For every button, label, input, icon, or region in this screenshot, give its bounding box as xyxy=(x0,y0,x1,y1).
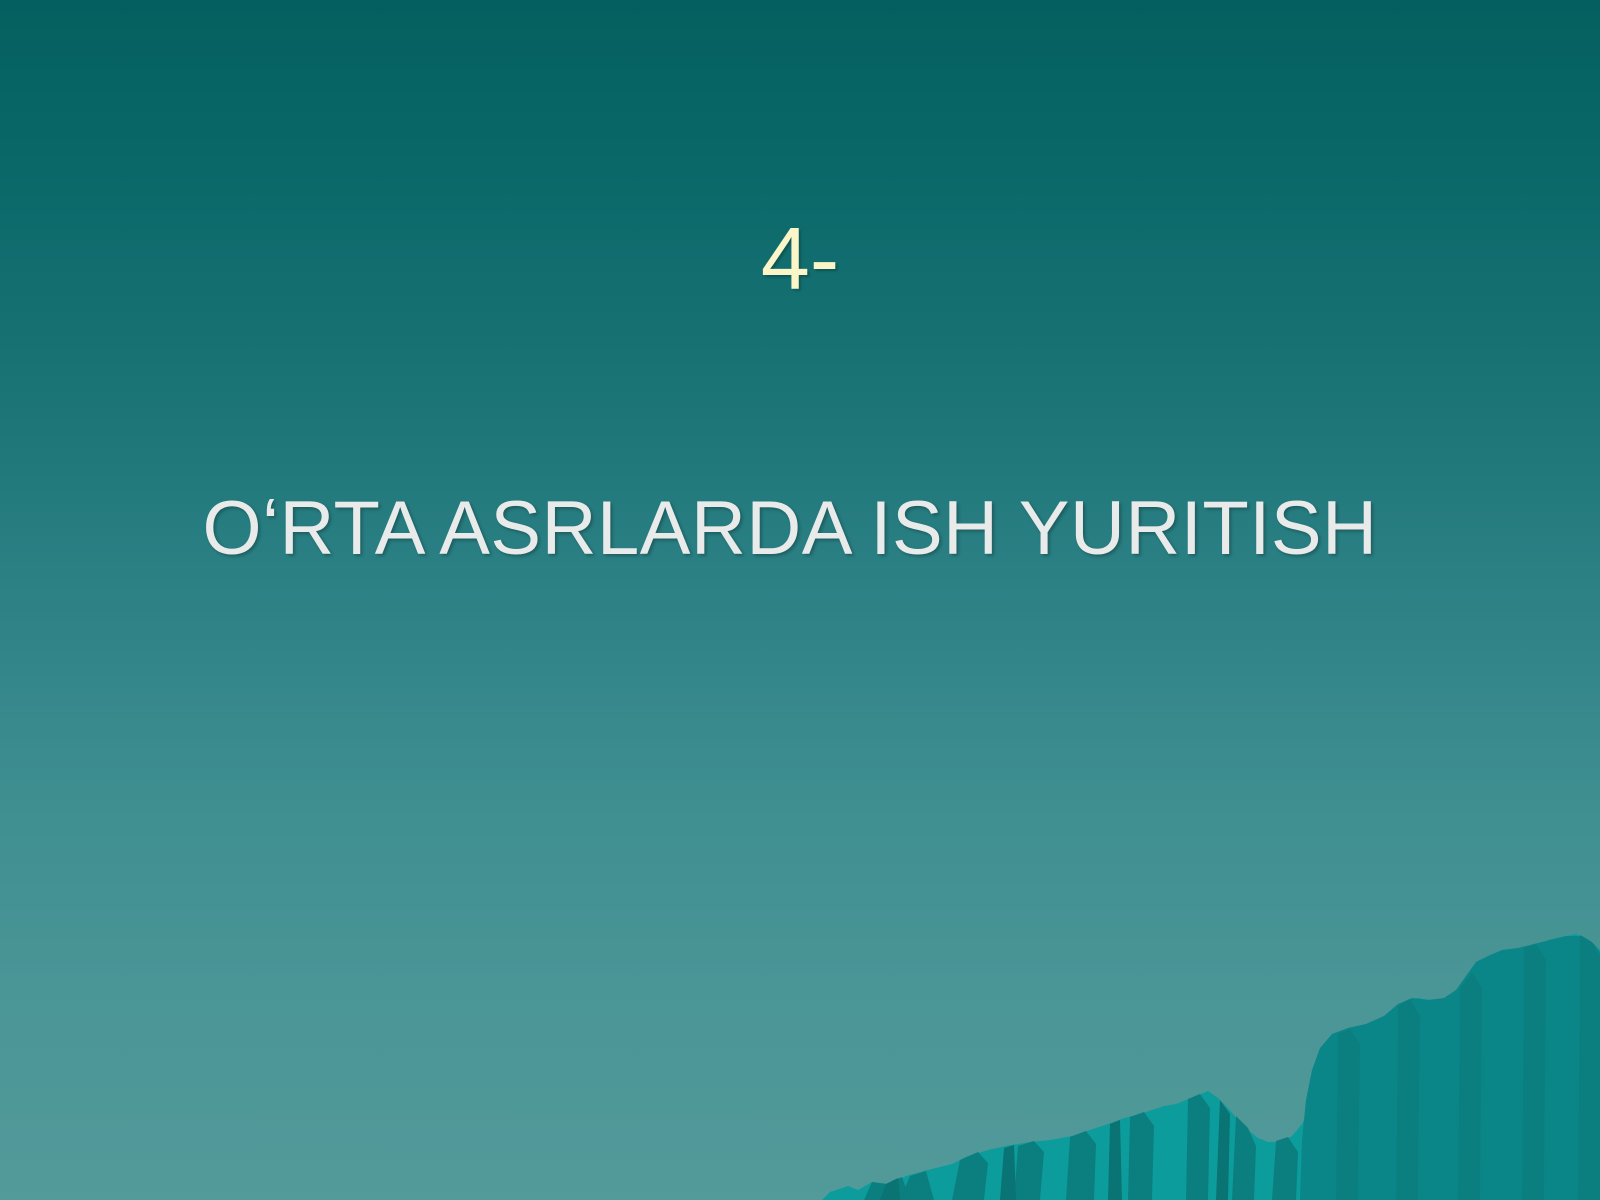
slide-number-heading: 4- xyxy=(0,215,1600,303)
mountain-shadow-creases xyxy=(880,1100,1230,1200)
mountain-foreground-shape xyxy=(1300,936,1600,1200)
presentation-slide: 4- OʻRTA ASRLARDA ISH YURITISH xyxy=(0,0,1600,1200)
mountain-base-shape xyxy=(822,934,1600,1200)
page-title: OʻRTA ASRLARDA ISH YURITISH xyxy=(60,488,1520,570)
mountain-ridge-icon xyxy=(0,0,1600,1200)
mountain-striations xyxy=(864,935,1600,1200)
